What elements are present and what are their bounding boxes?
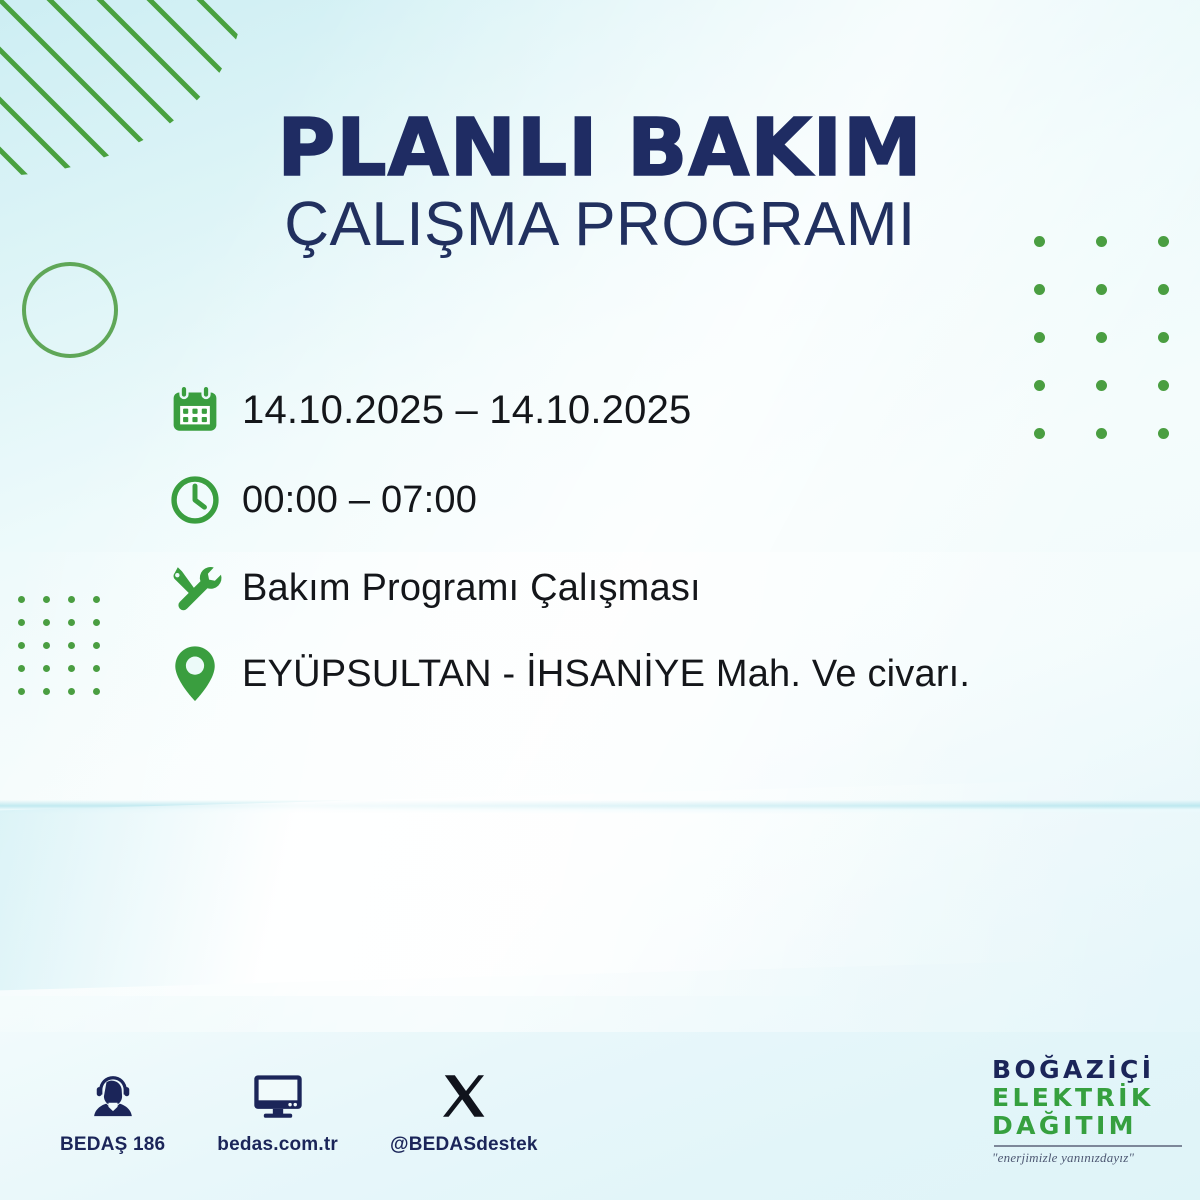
- calendar-icon: [168, 383, 242, 437]
- contact-social-label: @BEDASdestek: [390, 1134, 538, 1156]
- tools-icon: [168, 560, 242, 616]
- contact-phone-label: BEDAŞ 186: [60, 1134, 165, 1156]
- detail-time-value: 00:00 – 07:00: [242, 479, 477, 522]
- brand-logo: BOĞAZİÇİ ELEKTRİK DAĞITIM "enerjimizle y…: [992, 1056, 1182, 1166]
- detail-work-value: Bakım Programı Çalışması: [242, 567, 701, 610]
- title-main: PLANLI BAKIM: [0, 112, 1200, 185]
- background-lower-wave: [0, 774, 1200, 991]
- decorative-circle: [22, 262, 118, 358]
- monitor-icon: [217, 1066, 338, 1126]
- detail-row-date: 14.10.2025 – 14.10.2025: [168, 378, 1068, 442]
- detail-row-time: 00:00 – 07:00: [168, 468, 1068, 532]
- contact-website[interactable]: bedas.com.tr: [217, 1066, 338, 1156]
- x-twitter-icon: [390, 1066, 538, 1126]
- contact-phone[interactable]: BEDAŞ 186: [60, 1066, 165, 1156]
- support-agent-icon: [60, 1066, 165, 1126]
- detail-row-work: Bakım Programı Çalışması: [168, 556, 1068, 620]
- map-pin-icon: [168, 644, 242, 704]
- contact-social[interactable]: @BEDASdestek: [390, 1066, 538, 1156]
- details-list: 14.10.2025 – 14.10.2025 00:00 – 07:00: [168, 378, 1068, 732]
- footer-contacts: BEDAŞ 186 bedas.com.tr @B: [60, 1066, 538, 1156]
- detail-location-value: EYÜPSULTAN - İHSANİYE Mah. Ve civarı.: [242, 653, 970, 696]
- poster-canvas: PLANLI BAKIM ÇALIŞMA PROGRAMI: [0, 0, 1200, 1200]
- title-subtitle: ÇALIŞMA PROGRAMI: [0, 194, 1200, 256]
- detail-row-location: EYÜPSULTAN - İHSANİYE Mah. Ve civarı.: [168, 642, 1068, 706]
- logo-line-dagitim: DAĞITIM: [992, 1112, 1182, 1140]
- page-title: PLANLI BAKIM ÇALIŞMA PROGRAMI: [0, 112, 1200, 256]
- logo-line-elektrik: ELEKTRİK: [992, 1084, 1182, 1112]
- logo-divider: [994, 1145, 1182, 1147]
- contact-website-label: bedas.com.tr: [217, 1134, 338, 1156]
- logo-tagline: "enerjimizle yanınızdayız": [992, 1150, 1182, 1166]
- clock-icon: [168, 473, 242, 527]
- detail-date-value: 14.10.2025 – 14.10.2025: [242, 388, 691, 433]
- logo-line-bogazici: BOĞAZİÇİ: [992, 1056, 1182, 1084]
